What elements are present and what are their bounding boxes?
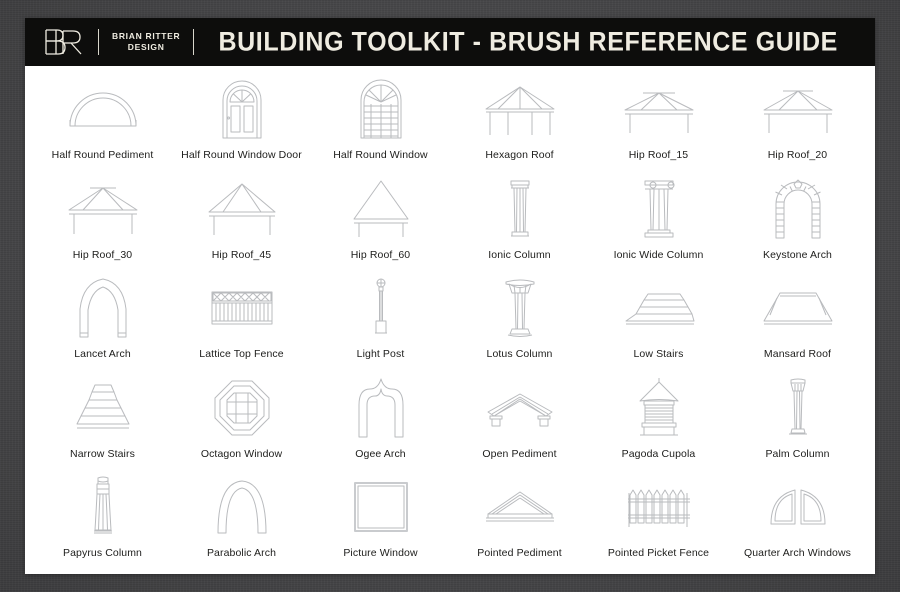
brush-item: Lotus Column <box>450 271 589 371</box>
brush-item: Ogee Arch <box>311 371 450 471</box>
hip-roof-60-icon <box>311 178 450 240</box>
brush-item: Pointed Picket Fence <box>589 470 728 570</box>
brush-item: Low Stairs <box>589 271 728 371</box>
parabolic-arch-icon <box>172 476 311 538</box>
brush-label: Open Pediment <box>482 448 556 460</box>
brush-item: Ionic Wide Column <box>589 172 728 272</box>
low-stairs-icon <box>589 277 728 339</box>
brush-label: Hip Roof_15 <box>629 149 688 161</box>
brush-label: Hexagon Roof <box>485 149 553 161</box>
brush-label: Quarter Arch Windows <box>744 547 851 559</box>
brush-item: Pointed Pediment <box>450 470 589 570</box>
brand-line-2: DESIGN <box>112 42 180 53</box>
brush-label: Papyrus Column <box>63 547 142 559</box>
brush-label: Hip Roof_30 <box>73 249 132 261</box>
brush-item: Hip Roof_60 <box>311 172 450 272</box>
brush-label: Lotus Column <box>487 348 553 360</box>
papyrus-column-icon <box>33 476 172 538</box>
brand-lockup: BRIAN RITTER DESIGN <box>25 25 207 59</box>
brush-item: Picture Window <box>311 470 450 570</box>
ogee-arch-icon <box>311 377 450 439</box>
narrow-stairs-icon <box>33 377 172 439</box>
brand-divider-right <box>193 29 194 55</box>
br-monogram-icon <box>41 25 85 59</box>
hip-roof-45-icon <box>172 178 311 240</box>
brush-label: Lattice Top Fence <box>199 348 283 360</box>
brush-label: Hip Roof_20 <box>768 149 827 161</box>
hip-roof-30-icon <box>33 178 172 240</box>
brush-label: Parabolic Arch <box>207 547 276 559</box>
brush-label: Half Round Window <box>333 149 428 161</box>
brush-item[interactable]: Half Round Window Door <box>172 72 311 172</box>
ionic-column-icon <box>450 178 589 240</box>
lancet-arch-icon <box>33 277 172 339</box>
pointed-picket-fence-icon <box>589 476 728 538</box>
brush-label: Palm Column <box>765 448 829 460</box>
hexagon-roof-icon <box>450 78 589 140</box>
brush-item: Palm Column <box>728 371 867 471</box>
mansard-roof-icon <box>728 277 867 339</box>
brush-label: Mansard Roof <box>764 348 831 360</box>
quarter-arch-windows-icon <box>728 476 867 538</box>
brush-item: Lattice Top Fence <box>172 271 311 371</box>
lotus-column-icon <box>450 277 589 339</box>
brush-label: Low Stairs <box>633 348 683 360</box>
brush-item: Keystone Arch <box>728 172 867 272</box>
brush-item: Hexagon Roof <box>450 72 589 172</box>
brush-label: Picture Window <box>343 547 417 559</box>
brush-item: Papyrus Column <box>33 470 172 570</box>
hip-roof-20-icon <box>728 78 867 140</box>
sheet-header: BRIAN RITTER DESIGN BUILDING TOOLKIT - B… <box>25 18 875 66</box>
brush-item: Half Round Window <box>311 72 450 172</box>
brush-item: Mansard Roof <box>728 271 867 371</box>
brush-label: Light Post <box>357 348 405 360</box>
brush-item: Ionic Column <box>450 172 589 272</box>
brush-label: Hip Roof_45 <box>212 249 271 261</box>
brush-item: Hip Roof_20 <box>728 72 867 172</box>
half-round-window-icon <box>311 78 450 140</box>
brush-label: Ionic Wide Column <box>614 249 704 261</box>
pointed-pediment-icon <box>450 476 589 538</box>
pagoda-cupola-icon <box>589 377 728 439</box>
brush-item[interactable]: Half Round Pediment <box>33 72 172 172</box>
brush-item: Hip Roof_15 <box>589 72 728 172</box>
light-post-icon <box>311 277 450 339</box>
reference-sheet: BRIAN RITTER DESIGN BUILDING TOOLKIT - B… <box>25 18 875 574</box>
palm-column-icon <box>728 377 867 439</box>
brush-label: Half Round Pediment <box>52 149 154 161</box>
brush-item: Light Post <box>311 271 450 371</box>
brush-label: Octagon Window <box>201 448 282 460</box>
ionic-wide-column-icon <box>589 178 728 240</box>
brand-line-1: BRIAN RITTER <box>112 31 180 42</box>
page-title: BUILDING TOOLKIT - BRUSH REFERENCE GUIDE <box>207 27 875 58</box>
brush-item: Quarter Arch Windows <box>728 470 867 570</box>
lattice-top-fence-icon <box>172 277 311 339</box>
brush-label: Hip Roof_60 <box>351 249 410 261</box>
hip-roof-15-icon <box>589 78 728 140</box>
brand-name: BRIAN RITTER DESIGN <box>112 31 180 53</box>
brush-item: Hip Roof_30 <box>33 172 172 272</box>
brush-item: Octagon Window <box>172 371 311 471</box>
brush-label: Pointed Pediment <box>477 547 562 559</box>
brush-label: Ogee Arch <box>355 448 406 460</box>
half-round-pediment-icon <box>33 78 172 140</box>
brush-label: Pointed Picket Fence <box>608 547 709 559</box>
brush-item: Pagoda Cupola <box>589 371 728 471</box>
brush-label: Ionic Column <box>488 249 550 261</box>
open-pediment-icon <box>450 377 589 439</box>
brush-label: Lancet Arch <box>74 348 131 360</box>
brush-item: Open Pediment <box>450 371 589 471</box>
half-round-window-door-icon <box>172 78 311 140</box>
octagon-window-icon <box>172 377 311 439</box>
brush-grid: Half Round Pediment Half Round Window Do… <box>25 66 875 574</box>
picture-window-icon <box>311 476 450 538</box>
brush-label: Keystone Arch <box>763 249 832 261</box>
brush-label: Pagoda Cupola <box>622 448 696 460</box>
brush-label: Narrow Stairs <box>70 448 135 460</box>
brush-item: Parabolic Arch <box>172 470 311 570</box>
brush-item: Narrow Stairs <box>33 371 172 471</box>
keystone-arch-icon <box>728 178 867 240</box>
brush-item: Hip Roof_45 <box>172 172 311 272</box>
brush-item: Lancet Arch <box>33 271 172 371</box>
brush-label: Half Round Window Door <box>181 149 302 161</box>
brand-divider-left <box>98 29 99 55</box>
